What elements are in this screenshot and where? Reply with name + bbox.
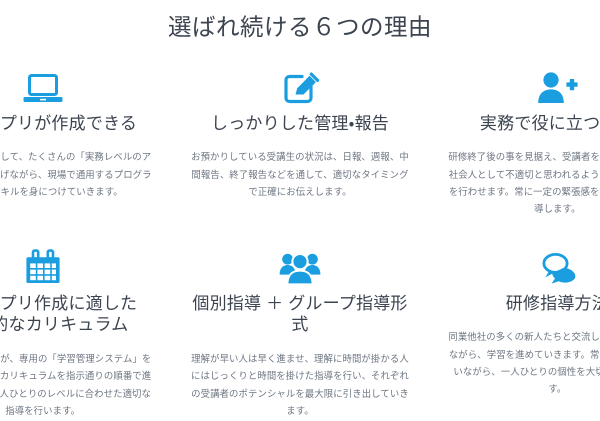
laptop-icon	[0, 61, 153, 105]
page-title: 選ばれ続ける６つの理由	[0, 0, 600, 43]
feature-body: お預かりしている受講生の状況は、日報、週報、中間報告、終了報告などを通して、適切…	[189, 148, 410, 200]
feature-card: 実践アプリが作成できる 実際に手を動かして、たくさんの「実務レベルのアプリ」を作…	[0, 61, 171, 241]
feature-title: しっかりした管理・報告	[189, 113, 410, 135]
calendar-icon	[0, 241, 153, 285]
people-group-icon	[189, 241, 410, 285]
feature-body: 研修終了後の事を見据え、受講者をお客様ではなく社会人として不適切と思われるような…	[447, 148, 600, 218]
feature-card: しっかりした管理・報告 お預かりしている受講生の状況は、日報、週報、中間報告、終…	[171, 61, 428, 241]
feature-body: 実際に手を動かして、たくさんの「実務レベルのアプリ」を作り上げながら、現場で通用…	[0, 148, 153, 200]
feature-body: 同業他社の多くの新人たちと交流し互いに高め合いながら、学習を進めていきます。常に…	[447, 328, 600, 398]
speech-bubbles-icon	[447, 241, 600, 285]
feature-card: 研修指導方法 同業他社の多くの新人たちと交流し互いに高め合いながら、学習を進めて…	[429, 241, 600, 421]
edit-pencil-icon	[189, 61, 410, 105]
feature-grid: 実践アプリが作成できる 実際に手を動かして、たくさんの「実務レベルのアプリ」を作…	[0, 61, 600, 421]
feature-title: 実務で役に立つ教育	[447, 113, 600, 135]
feature-title: 個別指導 ＋ グループ指導形式	[189, 293, 410, 337]
feature-body: 理解が早い人は早く進ませ、理解に時間が掛かる人にはじっくりと時間を掛けた指導を行…	[189, 350, 410, 420]
feature-body: 受講者それぞれが、専用の「学習管理システム」を使って体系的なカリキュラムを指示通…	[0, 350, 153, 420]
add-user-icon	[447, 61, 600, 105]
feature-title: 研修指導方法	[447, 293, 600, 315]
feature-title: 実践アプリ作成に適した 体系的なカリキュラム	[0, 293, 153, 337]
feature-card: 実務で役に立つ教育 研修終了後の事を見据え、受講者をお客様ではなく社会人として不…	[429, 61, 600, 241]
features-section: 選ばれ続ける６つの理由 実践アプリが作成できる 実際に手を動かして、たくさんの「…	[0, 0, 600, 400]
feature-title: 実践アプリが作成できる	[0, 113, 153, 135]
feature-card: 実践アプリ作成に適した 体系的なカリキュラム 受講者それぞれが、専用の「学習管理…	[0, 241, 171, 421]
feature-card: 個別指導 ＋ グループ指導形式 理解が早い人は早く進ませ、理解に時間が掛かる人に…	[171, 241, 428, 421]
